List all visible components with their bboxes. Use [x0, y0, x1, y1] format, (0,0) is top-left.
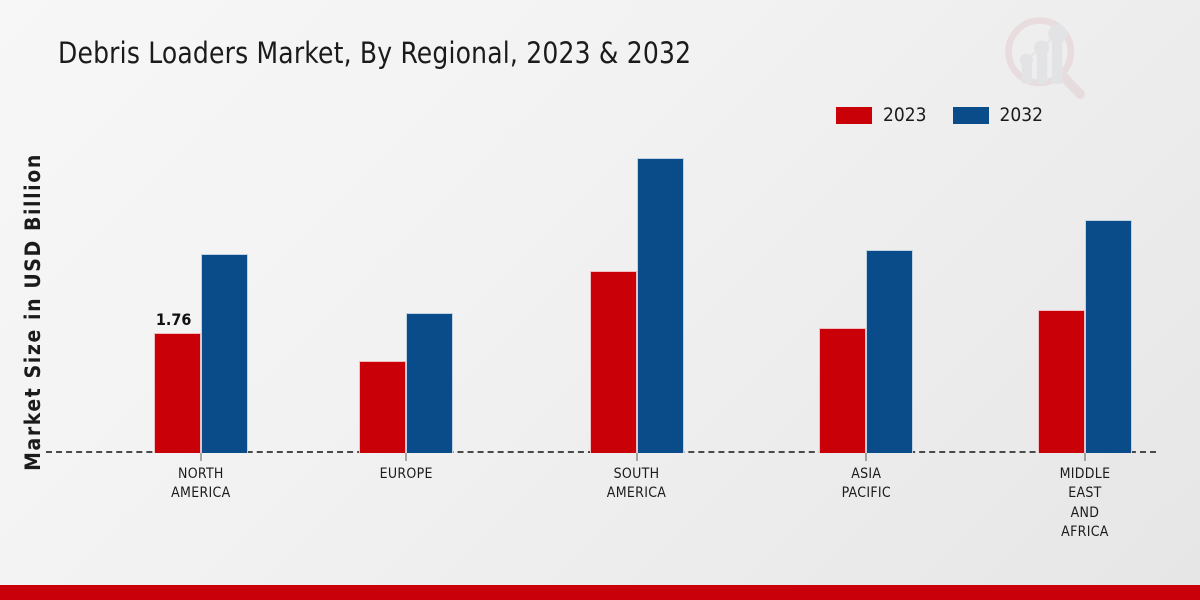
- watermark-logo-icon: [995, 14, 1090, 99]
- x-axis-label-middle-east-and-africa: MIDDLEEASTANDAFRICA: [1060, 465, 1111, 542]
- bar-group-north-america: 1.76NORTHAMERICA: [151, 140, 251, 453]
- bar-2032-europe[interactable]: [406, 313, 453, 453]
- bar-pair: [587, 140, 687, 453]
- legend-label-2032: 2032: [1000, 104, 1044, 126]
- x-axis-tick: [1084, 453, 1085, 461]
- x-axis-tick: [406, 453, 407, 461]
- x-axis-label-north-america: NORTHAMERICA: [171, 465, 230, 504]
- bar-group-asia-pacific: ASIAPACIFIC: [816, 140, 916, 453]
- x-axis-tick: [636, 453, 637, 461]
- bar-group-europe: EUROPE: [356, 140, 456, 453]
- bar-2023-europe[interactable]: [359, 361, 406, 453]
- bar-2032-south-america[interactable]: [637, 158, 684, 453]
- legend-swatch-2023: [836, 107, 872, 124]
- legend-item-2032[interactable]: 2032: [953, 104, 1044, 126]
- chart-container: Debris Loaders Market, By Regional, 2023…: [0, 0, 1200, 600]
- x-axis-tick: [200, 453, 201, 461]
- bar-2032-middle-east-and-africa[interactable]: [1085, 220, 1132, 453]
- bar-2023-middle-east-and-africa[interactable]: [1038, 310, 1085, 453]
- bar-2032-north-america[interactable]: [201, 254, 248, 453]
- x-axis-tick: [866, 453, 867, 461]
- bar-group-south-america: SOUTHAMERICA: [587, 140, 687, 453]
- bar-pair: [816, 140, 916, 453]
- x-axis-label-europe: EUROPE: [380, 465, 433, 484]
- legend-label-2023: 2023: [883, 104, 927, 126]
- x-axis-label-asia-pacific: ASIAPACIFIC: [842, 465, 891, 504]
- plot-area: 1.76NORTHAMERICAEUROPESOUTHAMERICAASIAPA…: [46, 140, 1156, 453]
- chart-title: Debris Loaders Market, By Regional, 2023…: [58, 36, 691, 70]
- x-axis-label-south-america: SOUTHAMERICA: [607, 465, 666, 504]
- bar-pair: [356, 140, 456, 453]
- bar-pair: [1035, 140, 1135, 453]
- chart-legend: 2023 2032: [836, 104, 1043, 126]
- value-label-2023-north-america: 1.76: [156, 310, 192, 329]
- bar-2023-asia-pacific[interactable]: [819, 328, 866, 453]
- legend-item-2023[interactable]: 2023: [836, 104, 927, 126]
- bar-2023-north-america[interactable]: [154, 333, 201, 453]
- legend-swatch-2032: [953, 107, 989, 124]
- bar-2023-south-america[interactable]: [590, 271, 637, 453]
- bar-group-middle-east-and-africa: MIDDLEEASTANDAFRICA: [1035, 140, 1135, 453]
- y-axis-label: Market Size in USD Billion: [21, 147, 45, 477]
- bar-2032-asia-pacific[interactable]: [866, 250, 913, 453]
- bar-pair: [151, 140, 251, 453]
- footer-accent-bar: [0, 585, 1200, 600]
